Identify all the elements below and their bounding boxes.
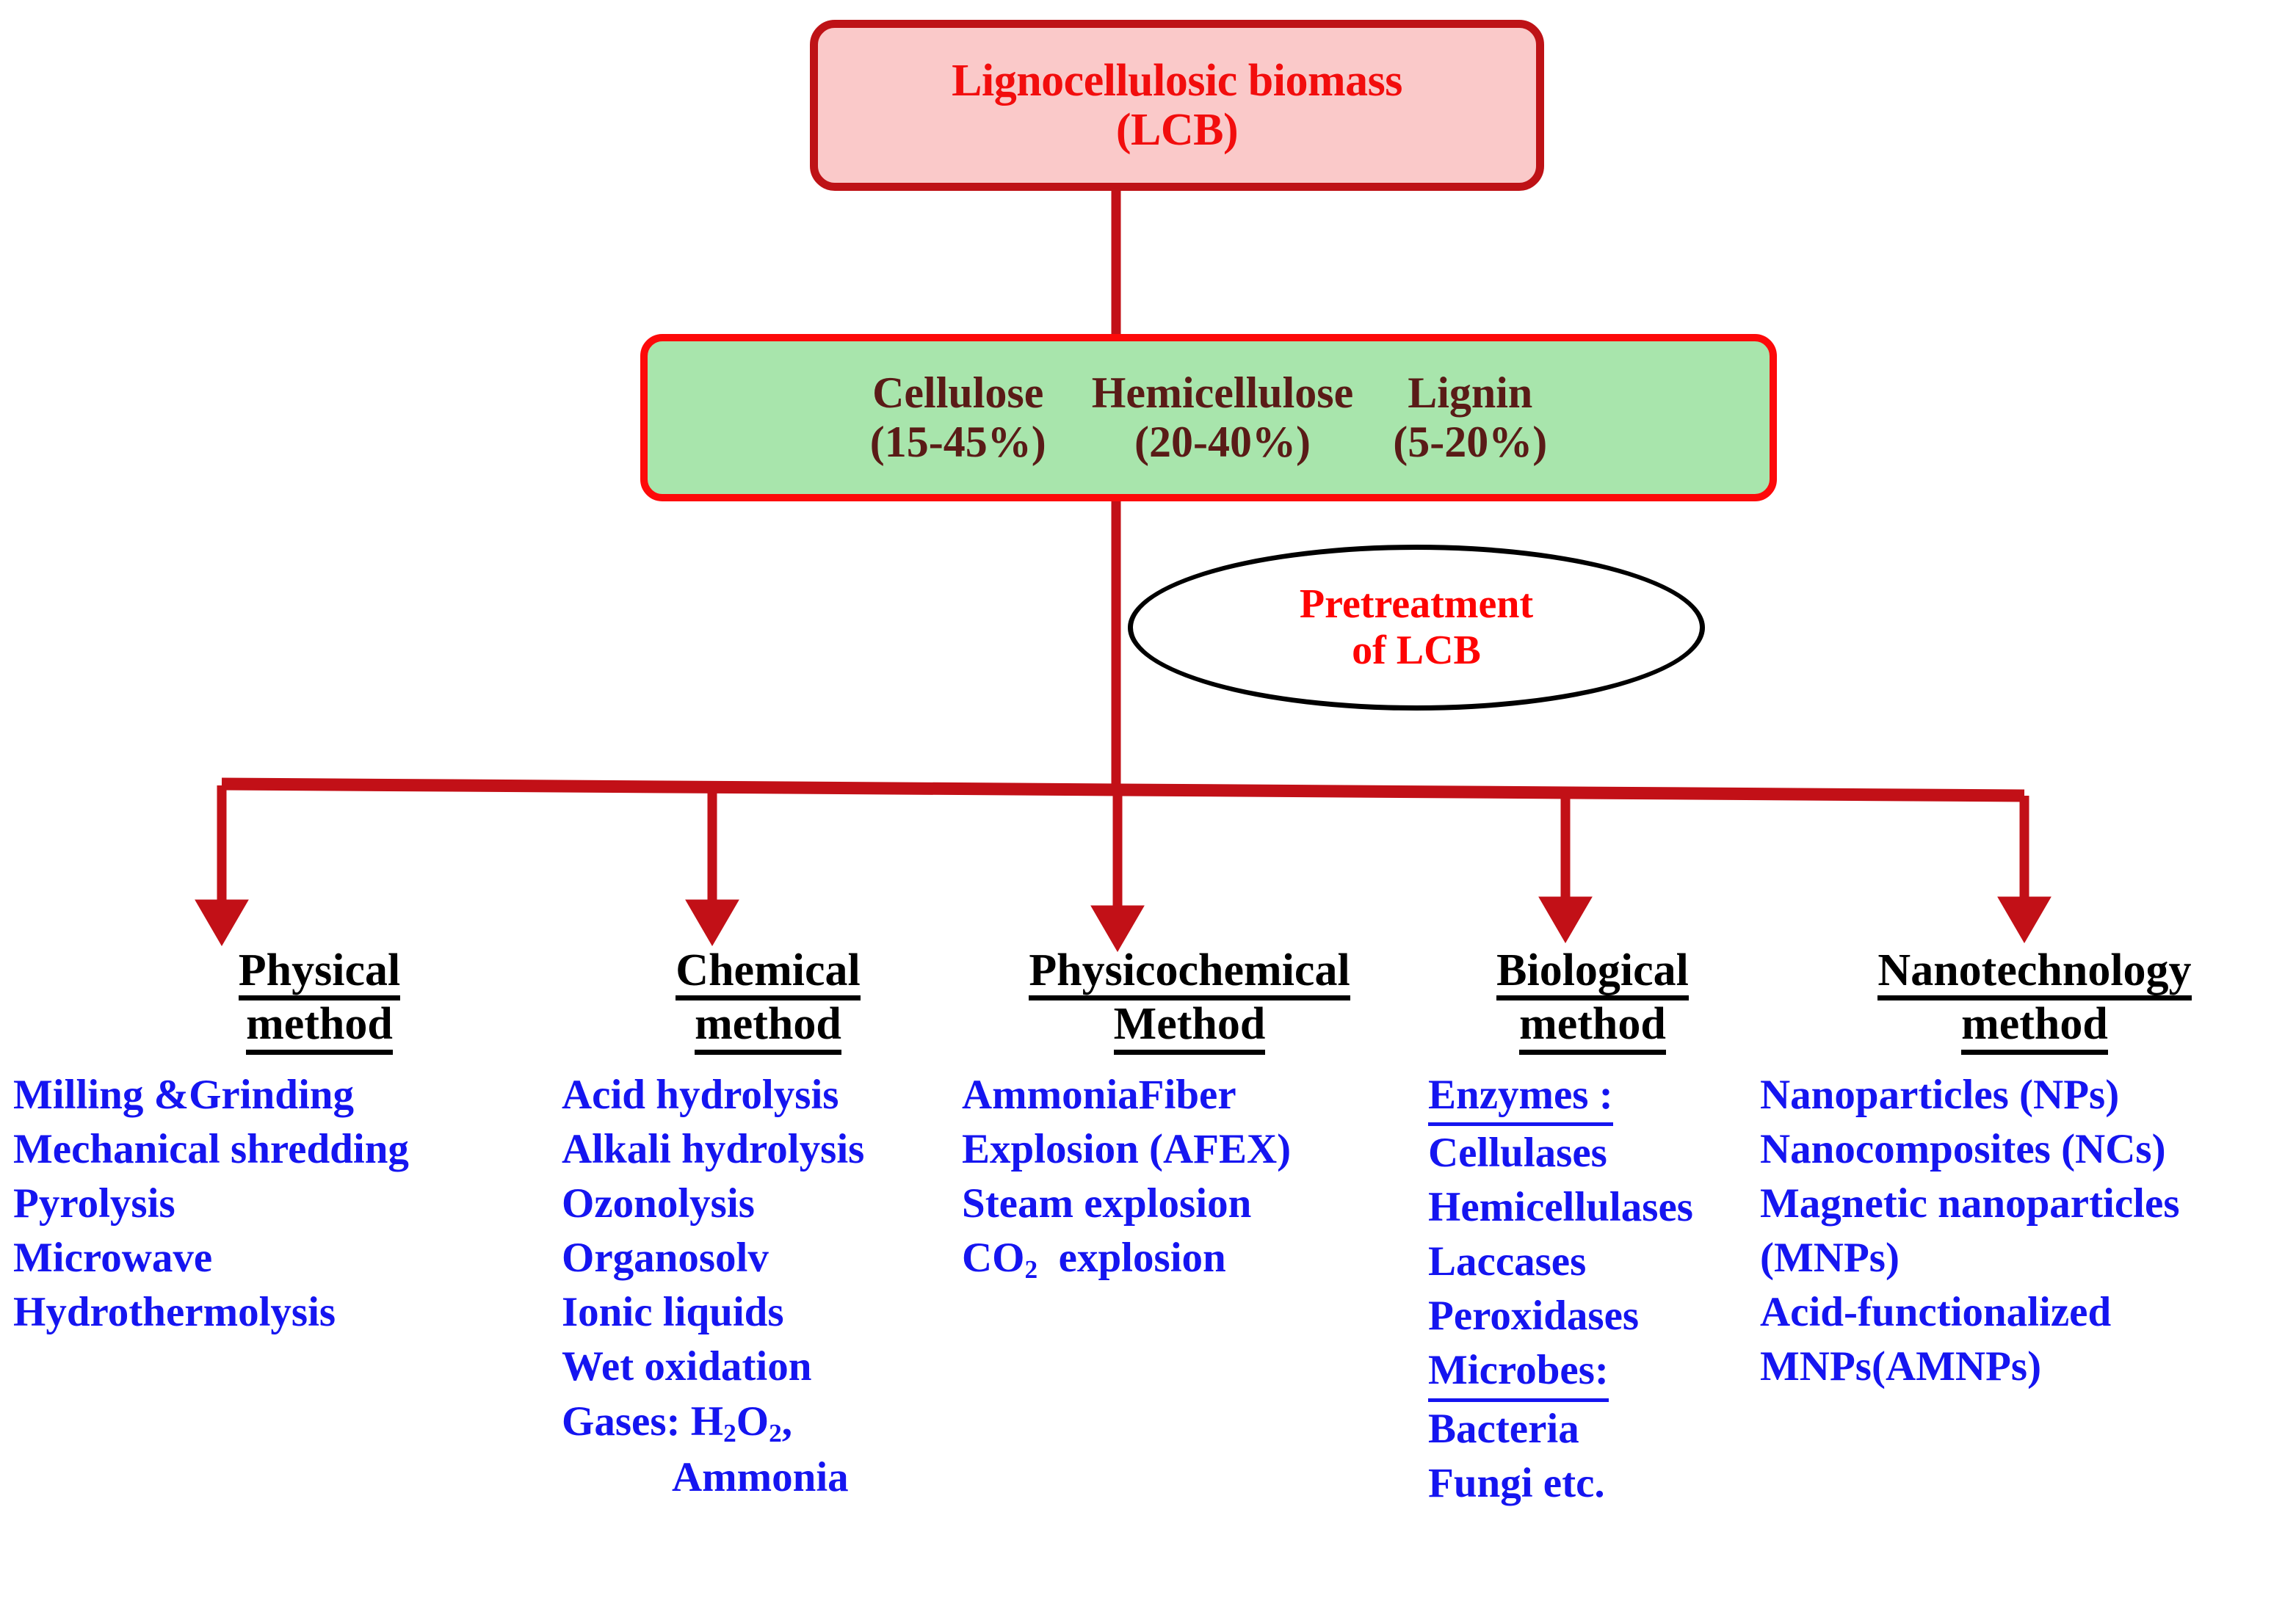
method-subheading-microbes: Microbes: <box>1428 1343 1609 1401</box>
heading-line-1: Physical <box>239 947 400 1000</box>
method-item: (MNPs) <box>1760 1231 2296 1285</box>
method-item: Ionic liquids <box>562 1285 963 1340</box>
heading-line-2: Method <box>1114 1000 1266 1054</box>
method-item: AmmoniaFiber <box>962 1068 1417 1122</box>
method-heading-chemical: Chemical method <box>573 947 963 1055</box>
method-item: Bacteria <box>1428 1402 1751 1456</box>
heading-line-1: Physicochemical <box>1029 947 1350 1000</box>
method-item: Alkali hydrolysis <box>562 1122 963 1177</box>
heading-line-2: method <box>1519 1000 1666 1054</box>
method-item: Hydrothermolysis <box>13 1285 549 1340</box>
component-range: (15-45%) <box>870 418 1046 467</box>
method-items-biological: Enzymes : Cellulases Hemicellulases Lacc… <box>1428 1068 1751 1511</box>
heading-line-1: Chemical <box>676 947 860 1000</box>
lcb-composition-box: Cellulose (15-45%) Hemicellulose (20-40%… <box>640 334 1777 501</box>
method-items-physicochemical: AmmoniaFiber Explosion (AFEX) Steam expl… <box>962 1068 1417 1287</box>
method-item: Acid-functionalized <box>1760 1285 2296 1340</box>
method-column-chemical: Chemical method Acid hydrolysis Alkali h… <box>552 947 963 1505</box>
method-items-nanotechnology: Nanoparticles (NPs) Nanocomposites (NCs)… <box>1760 1068 2296 1395</box>
method-item: Ammonia <box>562 1450 963 1505</box>
pretreatment-line-2: of LCB <box>1352 628 1481 674</box>
component-cellulose: Cellulose (15-45%) <box>870 368 1046 467</box>
method-heading-physicochemical: Physicochemical Method <box>962 947 1417 1055</box>
pretreatment-of-lcb-ellipse: Pretreatment of LCB <box>1128 545 1705 711</box>
method-item: Wet oxidation <box>562 1340 963 1394</box>
method-item: Cellulases <box>1428 1126 1751 1180</box>
method-column-physicochemical: Physicochemical Method AmmoniaFiber Expl… <box>962 947 1417 1287</box>
method-heading-biological: Biological method <box>1434 947 1751 1055</box>
component-range: (20-40%) <box>1134 418 1311 467</box>
heading-line-2: method <box>1961 1000 2108 1054</box>
method-item-gases: Gases: H2O2, <box>562 1395 963 1450</box>
flowchart-canvas: Lignocellulosic biomass (LCB) Cellulose … <box>0 0 2296 1598</box>
method-column-physical: Physical method Milling &Grinding Mechan… <box>13 947 549 1340</box>
pretreatment-line-1: Pretreatment <box>1300 581 1533 628</box>
method-item: Nanoparticles (NPs) <box>1760 1068 2296 1122</box>
method-item: Peroxidases <box>1428 1289 1751 1343</box>
method-items-physical: Milling &Grinding Mechanical shredding P… <box>13 1068 549 1340</box>
method-item: Milling &Grinding <box>13 1068 549 1122</box>
component-lignin: Lignin (5-20%) <box>1393 368 1547 467</box>
method-item-co2: CO2 explosion <box>962 1231 1417 1287</box>
method-item: Organosolv <box>562 1231 963 1285</box>
method-heading-nanotechnology: Nanotechnology method <box>1773 947 2296 1055</box>
method-item: Ozonolysis <box>562 1177 963 1231</box>
heading-line-2: method <box>695 1000 841 1054</box>
component-name: Lignin <box>1408 368 1532 418</box>
method-subheading-enzymes: Enzymes : <box>1428 1068 1613 1126</box>
component-name: Hemicellulose <box>1092 368 1354 418</box>
method-items-chemical: Acid hydrolysis Alkali hydrolysis Ozonol… <box>562 1068 963 1505</box>
method-item: Acid hydrolysis <box>562 1068 963 1122</box>
method-item: Nanocomposites (NCs) <box>1760 1122 2296 1177</box>
lignocellulosic-biomass-box: Lignocellulosic biomass (LCB) <box>810 20 1544 191</box>
method-item: Microwave <box>13 1231 549 1285</box>
heading-line-2: method <box>246 1000 393 1054</box>
method-column-biological: Biological method Enzymes : Cellulases H… <box>1428 947 1751 1511</box>
lcb-title-line-1: Lignocellulosic biomass <box>952 57 1402 106</box>
component-range: (5-20%) <box>1393 418 1547 467</box>
method-item: Mechanical shredding <box>13 1122 549 1177</box>
method-item: Explosion (AFEX) <box>962 1122 1417 1177</box>
component-name: Cellulose <box>872 368 1043 418</box>
method-item: Fungi etc. <box>1428 1456 1751 1511</box>
method-item: Laccases <box>1428 1235 1751 1289</box>
heading-line-1: Biological <box>1496 947 1689 1000</box>
method-item: Magnetic nanoparticles <box>1760 1177 2296 1231</box>
method-item: MNPs(AMNPs) <box>1760 1340 2296 1394</box>
method-item: Steam explosion <box>962 1177 1417 1231</box>
lcb-title-line-2: (LCB) <box>1116 106 1238 155</box>
method-heading-physical: Physical method <box>90 947 549 1055</box>
method-item: Pyrolysis <box>13 1177 549 1231</box>
component-hemicellulose: Hemicellulose (20-40%) <box>1092 368 1354 467</box>
heading-line-1: Nanotechnology <box>1877 947 2191 1000</box>
method-item: Hemicellulases <box>1428 1180 1751 1235</box>
method-column-nanotechnology: Nanotechnology method Nanoparticles (NPs… <box>1760 947 2296 1395</box>
